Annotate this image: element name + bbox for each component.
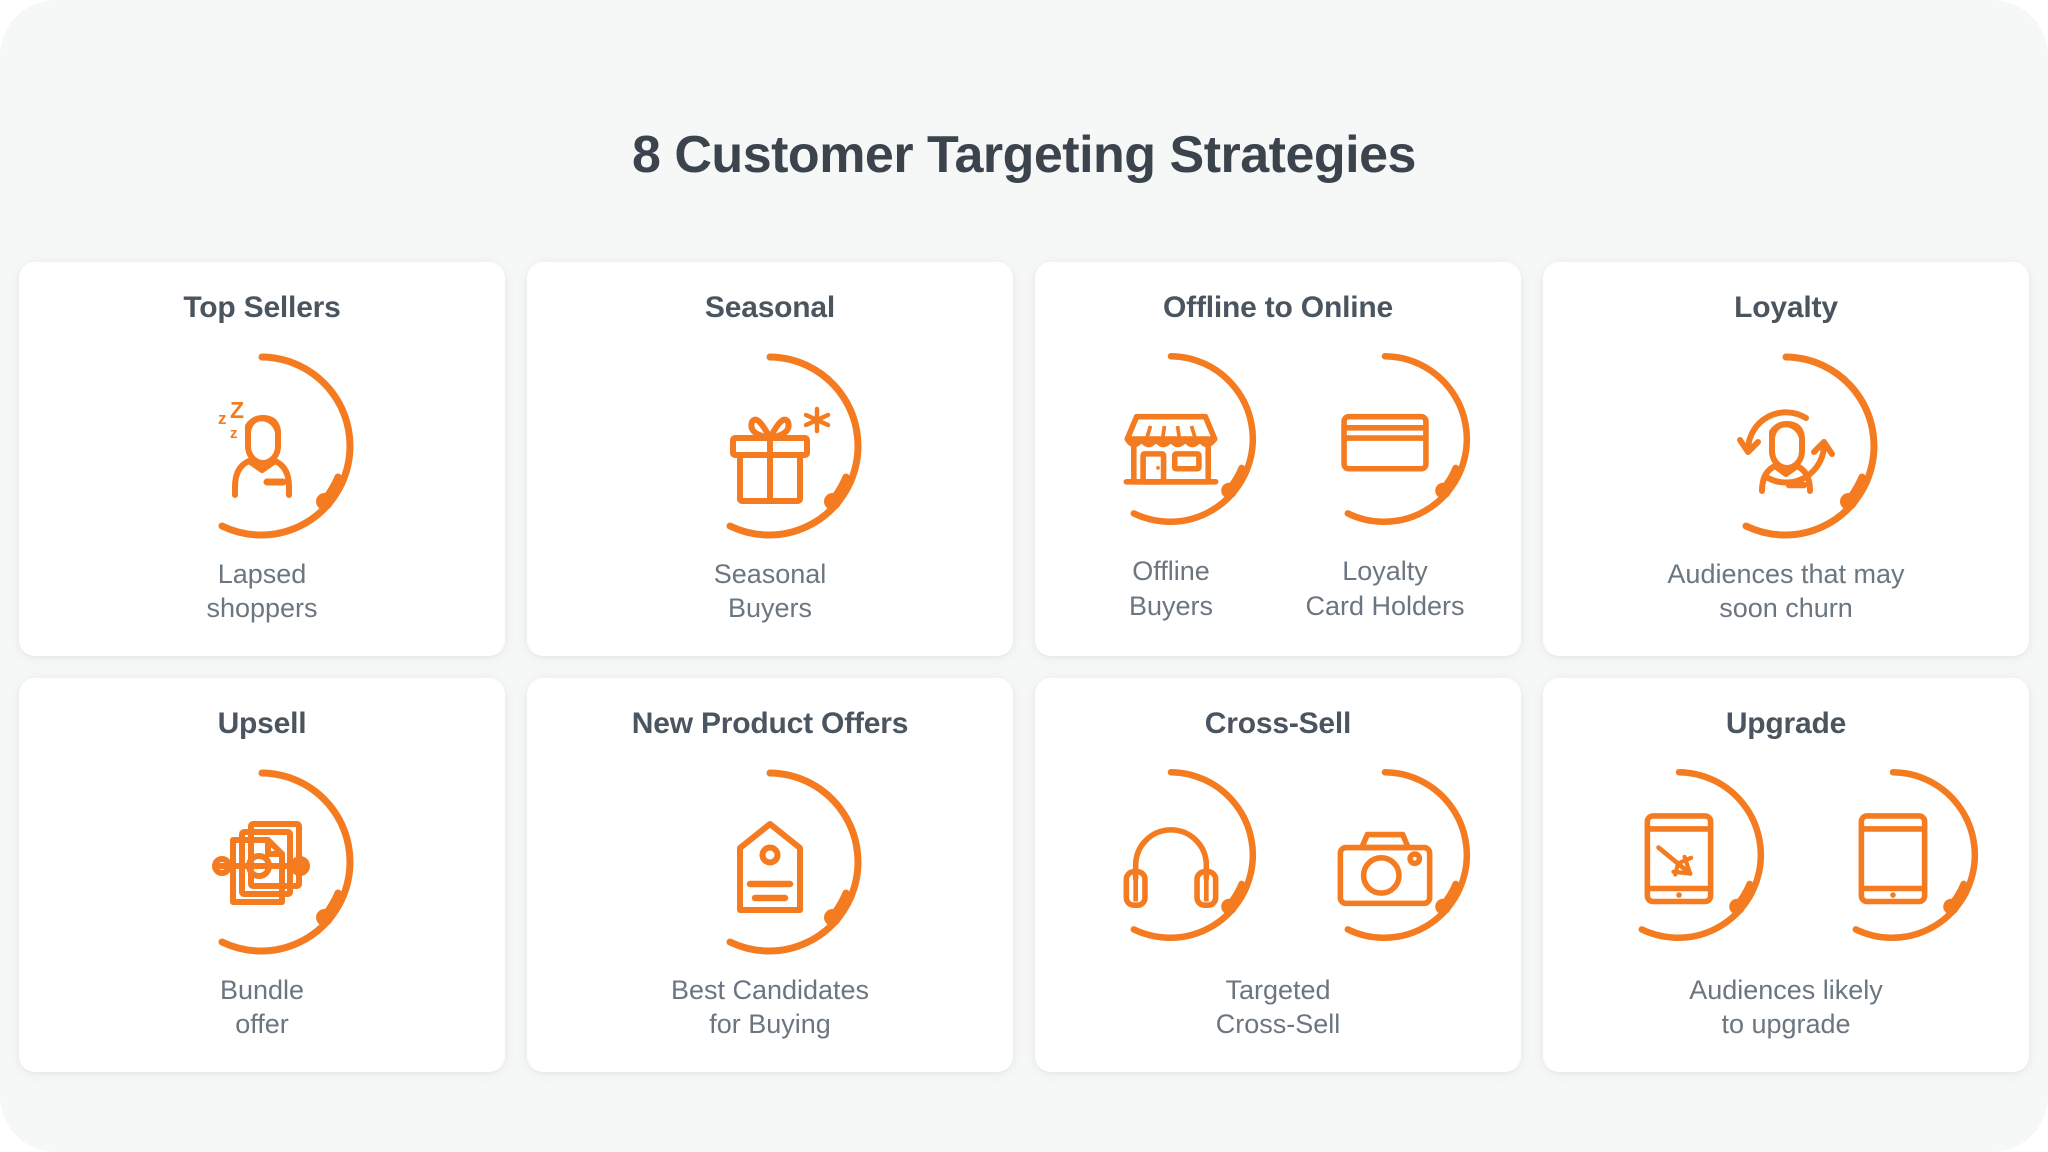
- card-title: Top Sellers: [183, 290, 340, 326]
- card-title: Cross-Sell: [1205, 706, 1351, 742]
- svg-text:Z: Z: [230, 397, 244, 423]
- strategy-card[interactable]: Upgrade Audiences likely to upgra: [1543, 678, 2029, 1072]
- icon-row: [670, 346, 870, 557]
- strategy-card[interactable]: New Product Offers Best Candidates for B…: [527, 678, 1013, 1072]
- icon-group[interactable]: [1800, 762, 1986, 948]
- strategy-card[interactable]: Loyalty Audiences that may soon churn: [1543, 262, 2029, 656]
- cracked-phone-icon: [1586, 762, 1772, 948]
- icon-group[interactable]: [670, 762, 870, 962]
- icon-group[interactable]: Z z z: [162, 346, 362, 546]
- card-caption: Lapsed shoppers: [206, 557, 317, 656]
- card-title: Seasonal: [705, 290, 835, 326]
- card-caption: Targeted Cross-Sell: [1216, 973, 1341, 1072]
- icon-row: [1686, 346, 1886, 557]
- headphones-icon: [1078, 762, 1264, 948]
- card-caption: Audiences that may soon churn: [1667, 557, 1904, 656]
- icon-row: [162, 762, 362, 973]
- icon-group[interactable]: Offline Buyers: [1078, 346, 1264, 623]
- icon-row: [670, 762, 870, 973]
- phone-icon: [1800, 762, 1986, 948]
- icon-group[interactable]: [1686, 346, 1886, 546]
- icon-group[interactable]: [670, 346, 870, 546]
- price-tag-icon: [670, 762, 870, 962]
- icon-group[interactable]: [162, 762, 362, 962]
- strategy-card[interactable]: Top Sellers Z z z Lapsed shoppers: [19, 262, 505, 656]
- icon-caption: Loyalty Card Holders: [1305, 554, 1464, 623]
- card-caption: Best Candidates for Buying: [671, 973, 869, 1072]
- svg-text:z: z: [218, 409, 227, 428]
- icon-group[interactable]: Loyalty Card Holders: [1292, 346, 1478, 623]
- card-caption: Audiences likely to upgrade: [1689, 973, 1883, 1072]
- infographic-page: 8 Customer Targeting Strategies Top Sell…: [0, 0, 2048, 1152]
- card-title: Upsell: [218, 706, 307, 742]
- gift-snowflake-icon: [670, 346, 870, 546]
- icon-row: [1586, 762, 1986, 973]
- strategy-card[interactable]: Seasonal Seasonal Buyers: [527, 262, 1013, 656]
- page-title: 8 Customer Targeting Strategies: [0, 0, 2048, 185]
- strategy-card-grid: Top Sellers Z z z Lapsed shoppersSeasona…: [0, 262, 2048, 1072]
- icon-caption: Offline Buyers: [1129, 554, 1213, 623]
- card-title: Offline to Online: [1163, 290, 1393, 326]
- camera-icon: [1292, 762, 1478, 948]
- icon-group[interactable]: [1586, 762, 1772, 948]
- strategy-card[interactable]: Upsell Bundle offer: [19, 678, 505, 1072]
- icon-group[interactable]: [1292, 762, 1478, 948]
- svg-text:z: z: [230, 425, 238, 442]
- icon-row: [1078, 762, 1478, 973]
- card-title: Upgrade: [1726, 706, 1846, 742]
- card-title: Loyalty: [1734, 290, 1838, 326]
- strategy-card[interactable]: Cross-Sell Targeted Cross-Sell: [1035, 678, 1521, 1072]
- icon-row: Offline Buyers Loyalty Card Holders: [1078, 346, 1478, 626]
- document-bundle-icon: [162, 762, 362, 962]
- credit-card-icon: [1292, 346, 1478, 532]
- person-refresh-icon: [1686, 346, 1886, 546]
- card-caption: Bundle offer: [220, 973, 304, 1072]
- card-title: New Product Offers: [632, 706, 908, 742]
- sleeping-person-icon: Z z z: [162, 346, 362, 546]
- icon-row: Z z z: [162, 346, 362, 557]
- storefront-icon: [1078, 346, 1264, 532]
- card-caption: Seasonal Buyers: [714, 557, 827, 656]
- strategy-card[interactable]: Offline to Online Offline Buyers: [1035, 262, 1521, 656]
- icon-group[interactable]: [1078, 762, 1264, 948]
